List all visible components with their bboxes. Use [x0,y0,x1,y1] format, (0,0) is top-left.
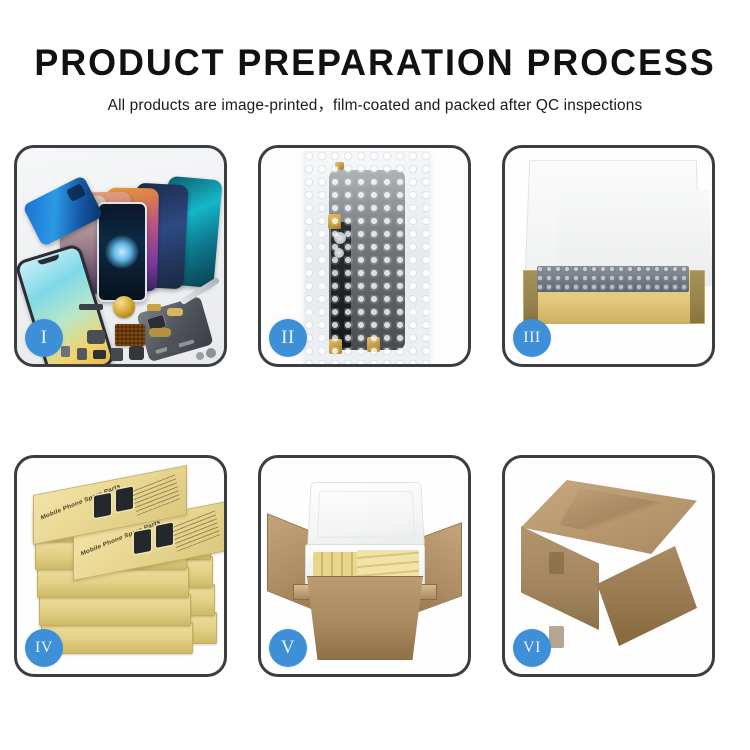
retail-box-side [41,622,193,654]
process-step-6: VI [502,455,715,677]
box-label-specs-lines [132,474,180,515]
process-step-4: Mobile Phone Spare Parts Mobile Phone Sp… [14,455,227,677]
carton-body [299,576,431,660]
product-preparation-infographic: PRODUCT PREPARATION PROCESS All products… [0,0,750,750]
spare-part [93,350,106,359]
page-title: PRODUCT PREPARATION PROCESS [11,0,739,84]
header: PRODUCT PREPARATION PROCESS All products… [0,0,750,115]
carton-hand-hole [549,552,564,574]
bubble-wrap-bag [305,152,429,364]
spare-part [196,352,204,360]
step-badge-3: III [513,319,551,357]
chip-grid-part [115,324,145,346]
gold-connector-tab [328,214,341,229]
foam-box-lid [307,482,425,548]
retail-box-side [39,594,191,626]
gold-connector-tab [329,339,342,354]
sensor-module [334,248,344,258]
step-badge-4: IV [25,629,63,667]
spare-part [61,346,70,357]
spare-part [87,330,105,344]
carton-hand-hole [549,626,564,648]
spare-part [149,328,171,337]
spare-part [111,348,123,361]
bubble-wrapped-contents [537,266,689,292]
spare-part [79,304,103,310]
speaker-coil-part [113,296,135,318]
step-badge-2: II [269,319,307,357]
carton-front-face [597,546,697,646]
gold-connector-tab [367,337,380,352]
step-badge-5: V [269,629,307,667]
spare-part [77,348,87,360]
box-label-window [116,487,133,512]
step-badge-6: VI [513,629,551,667]
spare-part [206,348,216,358]
process-step-5: V [258,455,471,677]
box-label-window [94,493,111,518]
page-subtitle: All products are image-printed，film-coat… [0,84,750,115]
process-step-2: II [258,145,471,367]
spare-part [129,346,144,360]
spare-part [147,304,161,311]
box-label-window [156,523,173,548]
box-label-window [134,529,151,554]
carton-left-face [521,526,599,630]
camera-module [334,232,346,244]
process-step-1: I [14,145,227,367]
gold-connector-tab [335,162,344,170]
process-step-grid: I II [14,145,736,677]
spare-part [167,342,179,352]
step-badge-1: I [25,319,63,357]
box-label-specs-lines [172,510,220,551]
spare-part [167,308,183,316]
box-lid-open [525,160,702,277]
process-step-3: III [502,145,715,367]
screen-protector-glass [97,202,147,302]
